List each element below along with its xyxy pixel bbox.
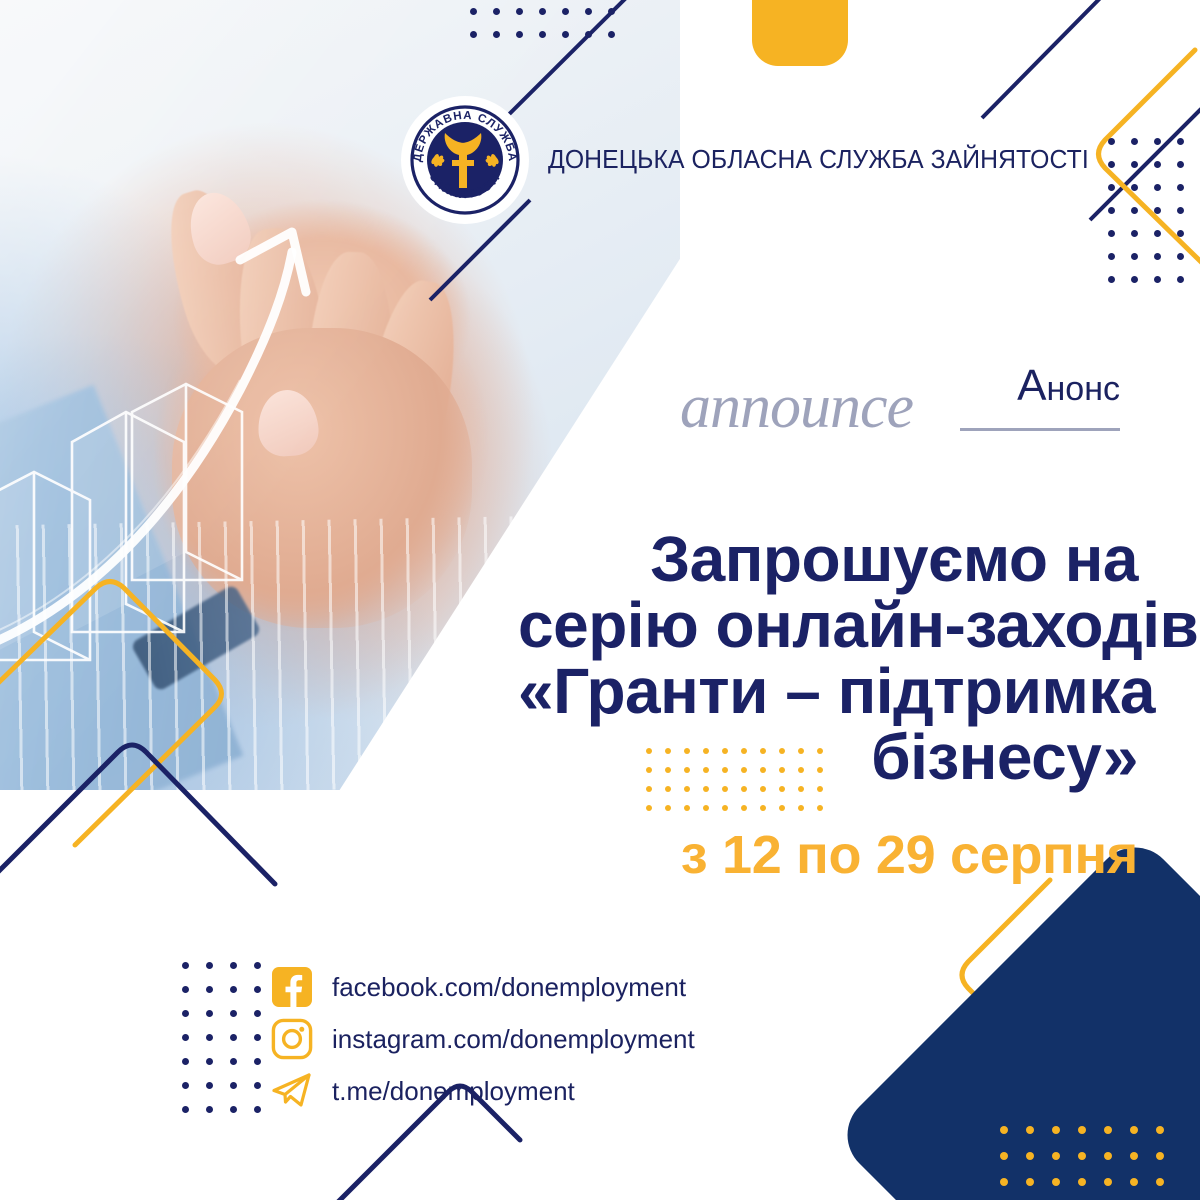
yellow-chevron-left — [0, 582, 222, 846]
announce-word-ua: Анонс — [1017, 364, 1120, 408]
instagram-icon[interactable] — [270, 1017, 314, 1061]
facebook-url[interactable]: facebook.com/donemployment — [332, 972, 686, 1003]
social-row-facebook[interactable]: facebook.com/donemployment — [270, 962, 695, 1012]
navy-chevron-left — [0, 745, 275, 900]
social-row-instagram[interactable]: instagram.com/donemployment — [270, 1014, 695, 1064]
telegram-icon[interactable] — [270, 1069, 314, 1113]
announce-word-en: announce — [680, 376, 913, 438]
state-employment-service-logo: ДЕРЖАВНА СЛУЖБА ЗАЙНЯТОСТІ — [404, 99, 526, 221]
headline-line-2: серію онлайн-заходів — [518, 593, 1138, 659]
social-links: facebook.com/donemployment instagram.com… — [270, 962, 695, 1118]
announce-ua-rest: нонс — [1047, 370, 1120, 408]
telegram-url[interactable]: t.me/donemployment — [332, 1076, 575, 1107]
headline-line-4: бізнесу» — [518, 725, 1138, 791]
yellow-chevron-bottom-right — [962, 880, 1130, 1150]
instagram-url[interactable]: instagram.com/donemployment — [332, 1024, 695, 1055]
yellow-chevron-right — [1099, 50, 1200, 300]
headline-line-3: «Гранти – підтримка — [518, 659, 1138, 725]
facebook-icon[interactable] — [270, 965, 314, 1009]
date-range: з 12 по 29 серпня — [681, 824, 1138, 886]
headline: Запрошуємо на серію онлайн-заходів «Гран… — [518, 527, 1138, 791]
social-row-telegram[interactable]: t.me/donemployment — [270, 1066, 695, 1116]
announce-block: announce Анонс — [680, 360, 1120, 450]
navy-diagonal-line-mid-right — [1090, 100, 1200, 220]
announce-ua-first: А — [1017, 361, 1046, 410]
organization-name: ДОНЕЦЬКА ОБЛАСНА СЛУЖБА ЗАЙНЯТОСТІ — [548, 146, 1089, 175]
poster-canvas: ДЕРЖАВНА СЛУЖБА ЗАЙНЯТОСТІ ДОНЕЦЬКА ОБЛА… — [0, 0, 1200, 1200]
poster-header: ДЕРЖАВНА СЛУЖБА ЗАЙНЯТОСТІ ДОНЕЦЬКА ОБЛА… — [404, 100, 1106, 220]
announce-underline — [960, 428, 1120, 431]
headline-line-1: Запрошуємо на — [518, 527, 1138, 593]
